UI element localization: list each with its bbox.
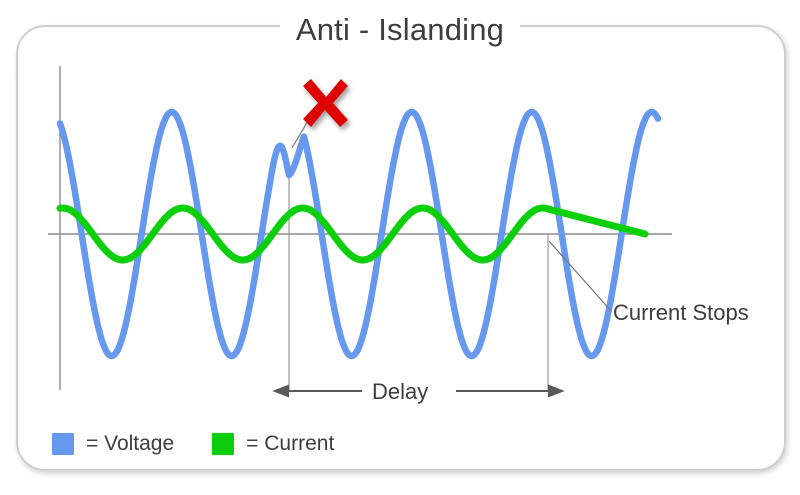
legend-swatch-voltage (52, 433, 74, 455)
legend-swatch-current (212, 433, 234, 455)
delay-label: Delay (372, 379, 428, 405)
legend-label-voltage: = Voltage (86, 432, 174, 456)
legend-item-current: = Current (212, 432, 334, 456)
legend-item-voltage: = Voltage (52, 432, 174, 456)
legend: = Voltage = Current (52, 432, 372, 456)
legend-label-current: = Current (246, 432, 334, 456)
diagram-stage: Anti - Islanding Current Stops Delay = V… (0, 0, 800, 495)
current-stops-label: Current Stops (613, 300, 749, 326)
anti-islanding-diagram (0, 0, 800, 495)
